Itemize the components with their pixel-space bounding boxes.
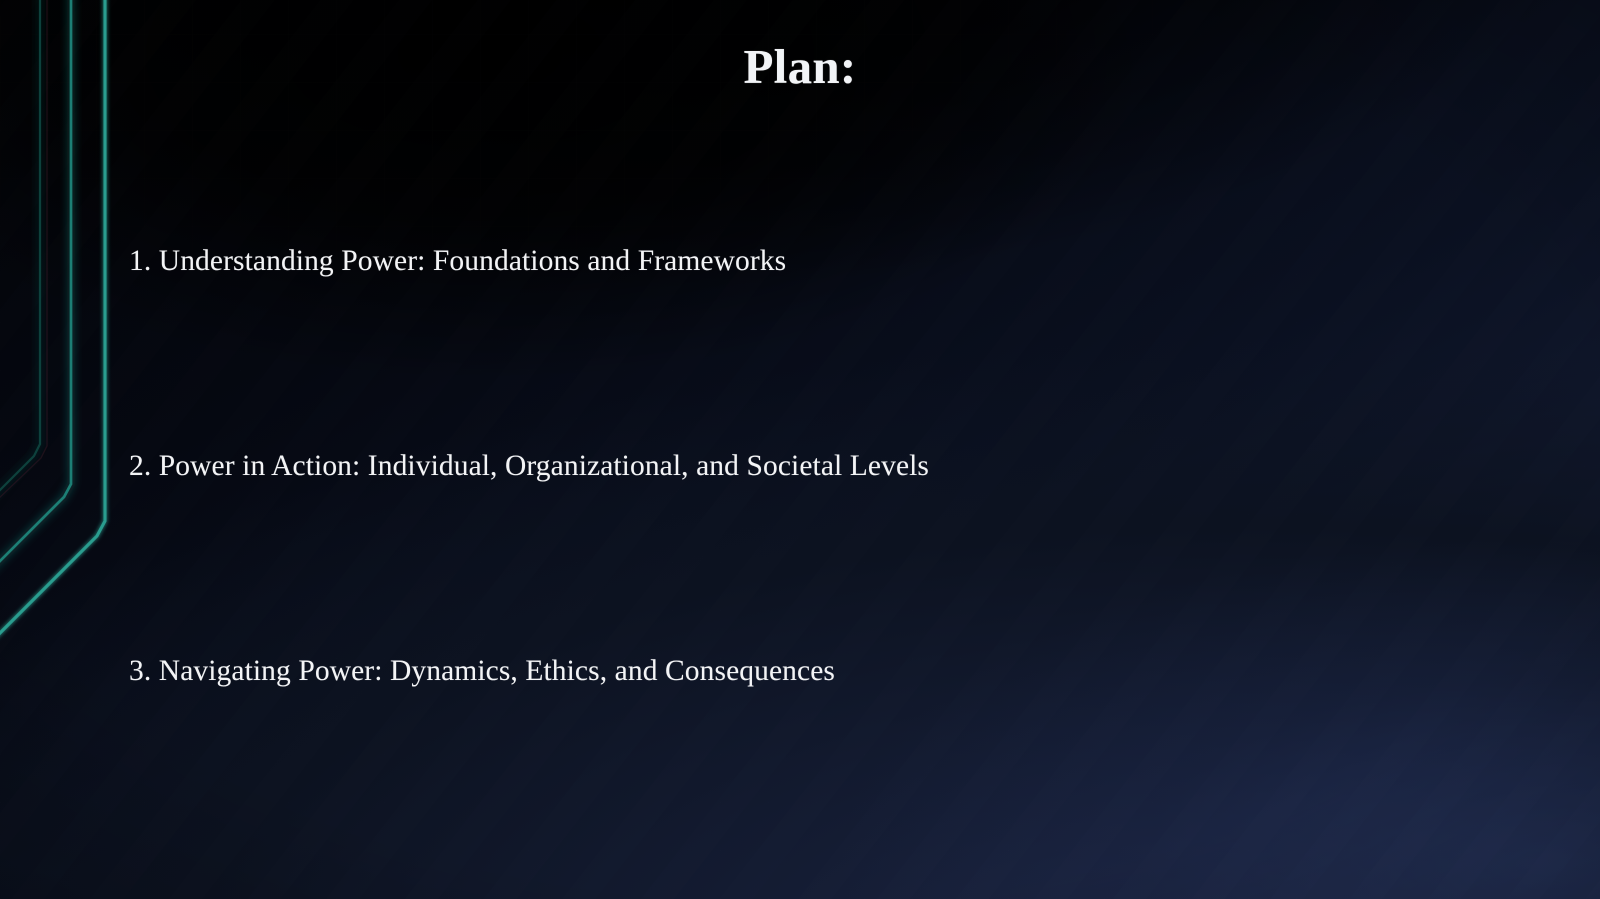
page-title: Plan: [0, 38, 1600, 95]
plan-list: 1. Understanding Power: Foundations and … [129, 244, 1429, 688]
presentation-slide: Plan: 1. Understanding Power: Foundation… [0, 0, 1600, 899]
list-item: 2. Power in Action: Individual, Organiza… [129, 449, 1429, 484]
list-item: 3. Navigating Power: Dynamics, Ethics, a… [129, 654, 1429, 689]
list-item: 1. Understanding Power: Foundations and … [129, 244, 1429, 279]
